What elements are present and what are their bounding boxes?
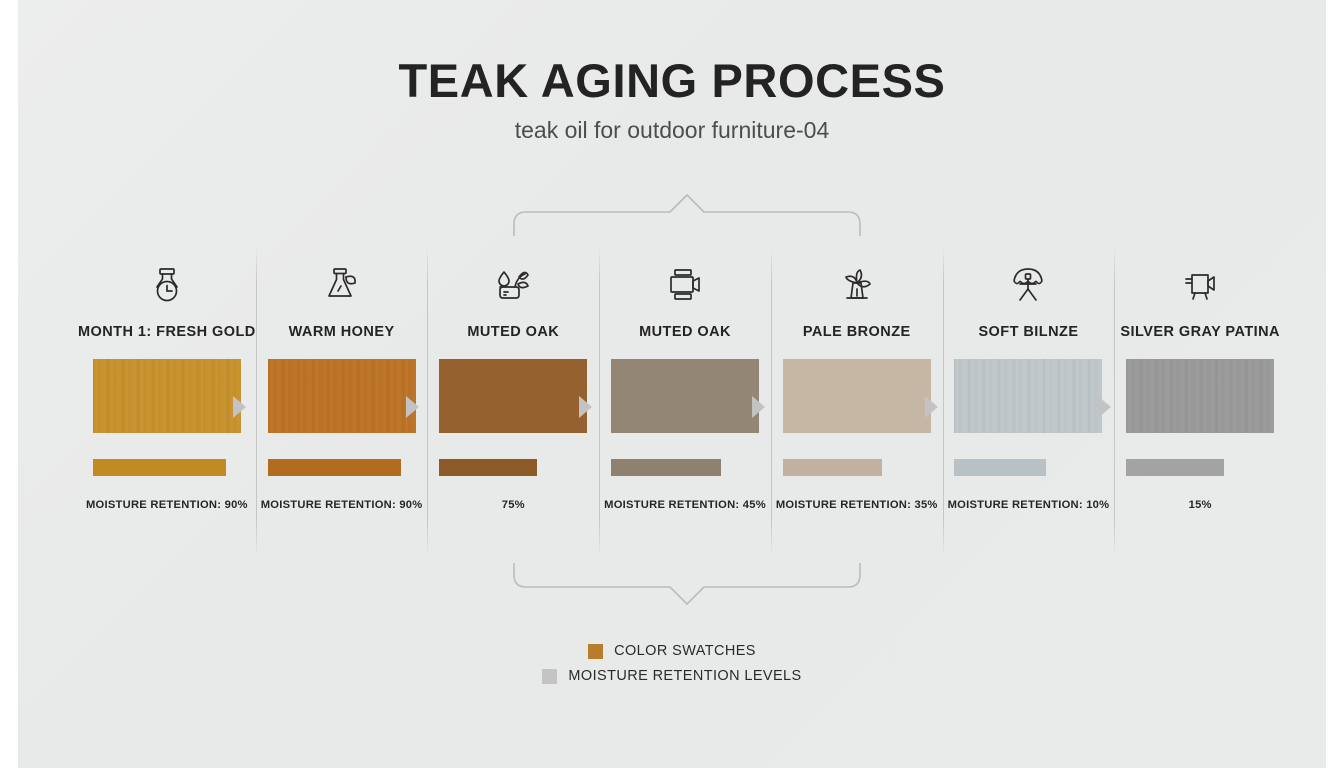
flow-arrow	[752, 396, 765, 418]
legend-item: MOISTURE RETENTION LEVELS	[18, 668, 1326, 684]
stage-column[interactable]: SOFT BILNZE MOISTURE RETENTION: 10%	[943, 246, 1115, 558]
moisture-bar-track	[93, 459, 241, 476]
legend-item: COLOR SWATCHES	[18, 643, 1326, 659]
film-camera-icon	[663, 260, 707, 310]
stage-label: MUTED OAK	[639, 324, 731, 340]
page-title: TEAK AGING PROCESS	[18, 56, 1326, 107]
flask-leaf-icon	[320, 260, 364, 310]
wood-grain-texture	[93, 359, 241, 433]
moisture-bar-track	[954, 459, 1102, 476]
legend: COLOR SWATCHES MOISTURE RETENTION LEVELS	[18, 643, 1326, 693]
flow-arrow	[1098, 396, 1111, 418]
moisture-label: MOISTURE RETENTION: 45%	[604, 499, 766, 511]
flow-arrow	[579, 396, 592, 418]
wood-grain-texture	[1126, 359, 1274, 433]
moisture-bar-fill	[93, 459, 226, 476]
color-swatch	[93, 359, 241, 433]
stage-label: SOFT BILNZE	[978, 324, 1078, 340]
color-swatch	[1126, 359, 1274, 433]
color-swatch	[954, 359, 1102, 433]
header: TEAK AGING PROCESS teak oil for outdoor …	[18, 56, 1326, 144]
stage-column[interactable]: MONTH 1: FRESH GOLD MOISTURE RETENTION: …	[78, 246, 256, 558]
moisture-bar-track	[268, 459, 416, 476]
page-subtitle: teak oil for outdoor furniture-04	[18, 117, 1326, 144]
moisture-label: MOISTURE RETENTION: 90%	[261, 499, 423, 511]
legend-label: COLOR SWATCHES	[614, 643, 756, 659]
top-bracket-decoration	[512, 190, 862, 236]
moisture-bar-fill	[783, 459, 882, 476]
moisture-label: MOISTURE RETENTION: 35%	[776, 499, 938, 511]
film-camera-icon	[1178, 260, 1222, 310]
flow-arrow	[925, 396, 938, 418]
moisture-bar-fill	[611, 459, 721, 476]
stage-label: MUTED OAK	[467, 324, 559, 340]
flow-arrow	[233, 396, 246, 418]
moisture-label: MOISTURE RETENTION: 90%	[86, 499, 248, 511]
moisture-label: 75%	[502, 499, 525, 511]
droplet-sprout-icon	[491, 260, 535, 310]
moisture-bar-track	[783, 459, 931, 476]
stage-column[interactable]: MUTED OAK MOISTURE RETENTION: 45%	[599, 246, 771, 558]
color-swatch	[783, 359, 931, 433]
bottom-bracket-decoration	[512, 563, 862, 609]
stage-column[interactable]: MUTED OAK 75%	[427, 246, 599, 558]
moisture-bar-track	[439, 459, 587, 476]
flask-clock-icon	[145, 260, 189, 310]
parachute-figure-icon	[1006, 260, 1050, 310]
stage-column[interactable]: SILVER GRAY PATINA 15%	[1114, 246, 1286, 558]
moisture-label: MOISTURE RETENTION: 10%	[948, 499, 1110, 511]
flow-arrow	[406, 396, 419, 418]
stage-label: SILVER GRAY PATINA	[1120, 324, 1280, 340]
moisture-bar-track	[1126, 459, 1274, 476]
infographic-canvas: TEAK AGING PROCESS teak oil for outdoor …	[18, 0, 1326, 768]
stage-label: MONTH 1: FRESH GOLD	[78, 324, 256, 340]
windmill-leaf-icon	[835, 260, 879, 310]
legend-label: MOISTURE RETENTION LEVELS	[568, 668, 801, 684]
legend-color-chip	[588, 644, 603, 659]
stage-label: WARM HONEY	[289, 324, 395, 340]
wood-grain-texture	[268, 359, 416, 433]
moisture-label: 15%	[1189, 499, 1212, 511]
moisture-bar-fill	[1126, 459, 1224, 476]
moisture-bar-fill	[954, 459, 1046, 476]
color-swatch	[268, 359, 416, 433]
stage-column[interactable]: PALE BRONZE MOISTURE RETENTION: 35%	[771, 246, 943, 558]
legend-color-chip	[542, 669, 557, 684]
moisture-bar-fill	[439, 459, 537, 476]
color-swatch	[439, 359, 587, 433]
moisture-bar-track	[611, 459, 759, 476]
wood-grain-texture	[954, 359, 1102, 433]
moisture-bar-fill	[268, 459, 401, 476]
stage-column[interactable]: WARM HONEY MOISTURE RETENTION: 90%	[256, 246, 428, 558]
color-swatch	[611, 359, 759, 433]
stage-label: PALE BRONZE	[803, 324, 911, 340]
